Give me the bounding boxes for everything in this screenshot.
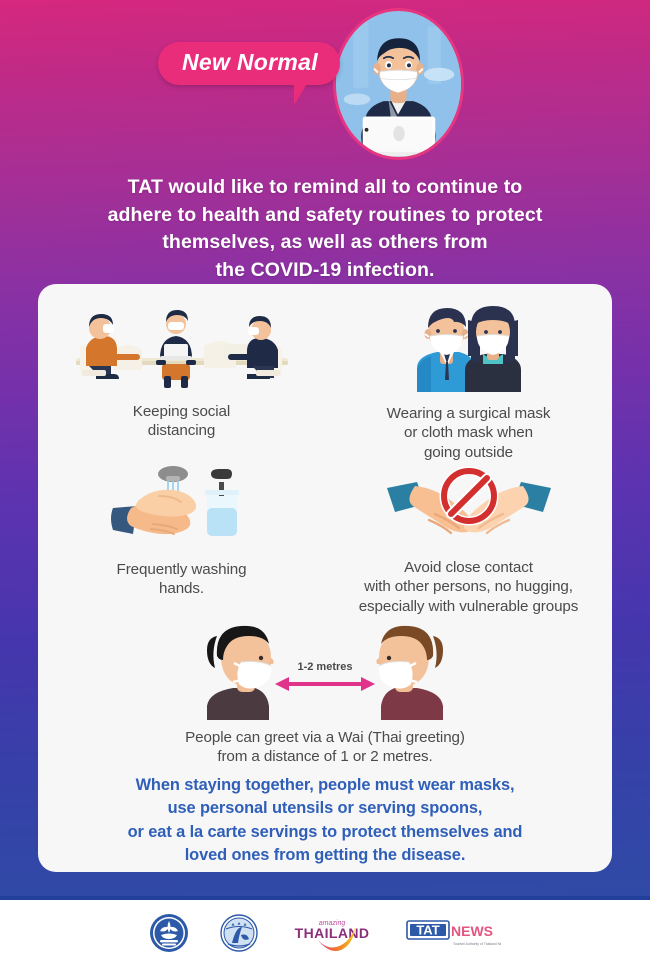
ministry-seal-logo: [149, 913, 189, 953]
page-title: TAT would like to remind all to continue…: [28, 174, 622, 285]
caption-line: or cloth mask when: [387, 423, 551, 442]
news-wordmark: NEWS: [451, 923, 493, 939]
tips-row-3: 1-2 metres People can greet via a Wai (T…: [38, 622, 612, 767]
tip-wearing-a-mask: Wearing a surgical mask or cloth mask wh…: [325, 300, 612, 462]
social-distancing-meeting-icon: [56, 300, 308, 392]
tip-caption: Keeping social distancing: [133, 402, 230, 441]
caption-line: Avoid close contact: [359, 558, 579, 577]
tip-caption: Wearing a surgical mask or cloth mask wh…: [387, 404, 551, 462]
headline-line: the COVID-19 infection.: [28, 257, 622, 285]
amazing-thailand-wordmark: THAILAND: [295, 925, 370, 941]
speech-bubble-tail-icon: [294, 82, 318, 105]
tat-news-logo: TAT NEWS Tourism Authority of Thailand N…: [405, 913, 501, 953]
tip-caption: Frequently washing hands.: [117, 560, 247, 599]
tip-wai-greeting: 1-2 metres People can greet via a Wai (T…: [185, 622, 465, 767]
caption-line: especially with vulnerable groups: [359, 597, 579, 616]
avatar-illustration: [336, 11, 461, 157]
guidelines-card: Keeping social distancing: [38, 284, 612, 872]
distance-label: 1-2 metres: [297, 661, 352, 673]
headline-line: themselves, as well as others from: [28, 229, 622, 257]
tip-caption: Avoid close contact with other persons, …: [359, 558, 579, 616]
wai-greeting-distance-icon: 1-2 metres: [191, 622, 459, 720]
masked-man-with-laptop-icon: [333, 8, 464, 160]
caption-line: going outside: [387, 443, 551, 462]
caption-line: from a distance of 1 or 2 metres.: [185, 747, 465, 766]
closing-line: or eat a la carte servings to protect th…: [58, 821, 592, 844]
caption-line: with other persons, no hugging,: [359, 577, 579, 596]
caption-line: Frequently washing: [117, 560, 247, 579]
infographic-poster: New Normal TAT would like to remind all …: [0, 0, 650, 962]
caption-line: Wearing a surgical mask: [387, 404, 551, 423]
new-normal-label: New Normal: [182, 51, 318, 74]
no-handshake-icon: [383, 466, 555, 548]
caption-line: Keeping social: [133, 402, 230, 421]
two-people-wearing-masks-icon: [403, 300, 535, 392]
closing-line: When staying together, people must wear …: [58, 774, 592, 797]
tip-avoid-close-contact: Avoid close contact with other persons, …: [325, 466, 612, 616]
footer-logos: amazing THAILAND TAT NEWS Tourism Author…: [0, 904, 650, 962]
headline-line: adhere to health and safety routines to …: [28, 202, 622, 230]
closing-line: loved ones from getting the disease.: [58, 844, 592, 867]
closing-message: When staying together, people must wear …: [58, 774, 592, 867]
hero-section: New Normal: [0, 0, 650, 170]
caption-line: hands.: [117, 579, 247, 598]
headline-line: TAT would like to remind all to continue…: [28, 174, 622, 202]
tat-news-tagline: Tourism Authority of Thailand Newsroom: [453, 942, 501, 946]
tip-washing-hands: Frequently washing hands.: [38, 466, 325, 616]
tip-keeping-social-distancing: Keeping social distancing: [38, 300, 325, 462]
washing-hands-with-soap-icon: [107, 466, 257, 548]
closing-line: use personal utensils or serving spoons,: [58, 797, 592, 820]
caption-line: People can greet via a Wai (Thai greetin…: [185, 728, 465, 747]
tips-row-2: Frequently washing hands.: [38, 466, 612, 616]
caption-line: distancing: [133, 421, 230, 440]
tourism-authority-seal-logo: [219, 913, 259, 953]
tat-mark-text: TAT: [416, 923, 439, 938]
tip-caption: People can greet via a Wai (Thai greetin…: [185, 728, 465, 767]
new-normal-badge: New Normal: [158, 42, 340, 85]
tips-row-1: Keeping social distancing: [38, 300, 612, 462]
amazing-thailand-logo: amazing THAILAND: [289, 913, 375, 953]
